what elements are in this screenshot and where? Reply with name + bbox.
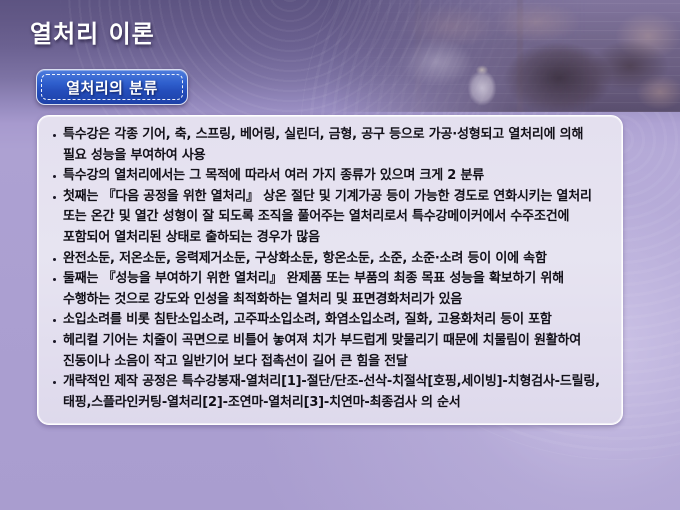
header-workshop-photo [330, 0, 680, 112]
bullet-list: 특수강은 각종 기어, 축, 스프링, 베어링, 실린더, 금형, 공구 등으로… [51, 125, 609, 413]
page-title: 열처리 이론 [30, 14, 155, 49]
list-item: 소입소려를 비롯 침탄소입소려, 고주파소입소려, 화염소입소려, 질화, 고용… [51, 310, 609, 331]
list-item: 개략적인 제작 공정은 특수강봉재-열처리[1]-절단/단조-선삭-치절삭[호핑… [51, 372, 609, 413]
list-item: 특수강은 각종 기어, 축, 스프링, 베어링, 실린더, 금형, 공구 등으로… [51, 125, 609, 166]
list-item: 첫째는 『다음 공정을 위한 열처리』 상온 절단 및 기계가공 등이 가능한 … [51, 187, 609, 249]
photo-purple-veil [330, 0, 680, 112]
list-item: 헤리컬 기어는 치줄이 곡면으로 비틀어 놓여져 치가 부드럽게 맞물리기 때문… [51, 331, 609, 372]
presentation-slide: 열처리 이론 열처리의 분류 특수강은 각종 기어, 축, 스프링, 베어링, … [0, 0, 680, 510]
list-item: 특수강의 열처리에서는 그 목적에 따라서 여러 가지 종류가 있으며 크게 2… [51, 166, 609, 187]
list-item: 둘째는 『성능을 부여하기 위한 열처리』 완제품 또는 부품의 최종 목표 성… [51, 269, 609, 310]
content-panel: 특수강은 각종 기어, 축, 스프링, 베어링, 실린더, 금형, 공구 등으로… [37, 115, 623, 425]
list-item: 완전소둔, 저온소둔, 응력제거소둔, 구상화소둔, 항온소둔, 소준, 소준·… [51, 249, 609, 270]
section-badge-label: 열처리의 분류 [37, 70, 187, 104]
section-badge[interactable]: 열처리의 분류 [36, 69, 188, 105]
